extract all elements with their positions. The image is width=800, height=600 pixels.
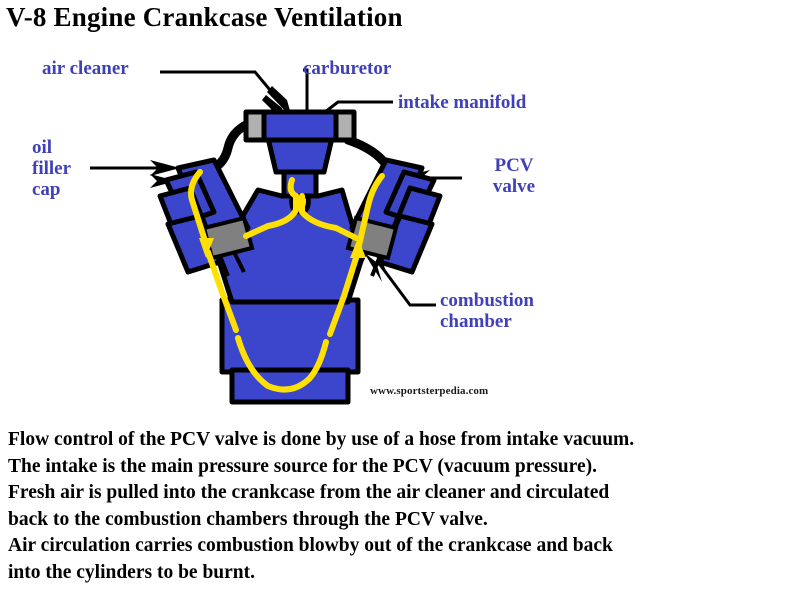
label-combustion-line2: chamber (440, 311, 534, 332)
label-air-cleaner-text: air cleaner (42, 58, 129, 79)
watermark: www.sportsterpedia.com (370, 385, 488, 397)
label-pcv-valve: PCV valve (468, 155, 560, 197)
description-line-2: The intake is the main pressure source f… (8, 454, 798, 481)
description-line-5: Air circulation carries combustion blowb… (8, 533, 798, 560)
air-cleaner-end-cap-right (336, 112, 354, 140)
label-pcv-line2: valve (468, 176, 560, 197)
label-oil-filler-line2: filler (32, 158, 71, 179)
label-air-cleaner: air cleaner (42, 58, 129, 79)
description-text: Flow control of the PCV valve is done by… (8, 427, 798, 586)
diagram-page: V-8 Engine Crankcase Ventilation (0, 0, 800, 600)
description-line-3: Fresh air is pulled into the crankcase f… (8, 480, 798, 507)
description-line-6: into the cylinders to be burnt. (8, 560, 798, 587)
label-carburetor: carburetor (303, 58, 391, 79)
label-combustion-chamber: combustion chamber (440, 290, 534, 332)
label-pcv-line1: PCV (468, 155, 560, 176)
label-carburetor-text: carburetor (303, 58, 391, 79)
air-cleaner (246, 112, 354, 140)
label-intake-manifold: intake manifold (398, 92, 526, 113)
description-line-1: Flow control of the PCV valve is done by… (8, 427, 798, 454)
label-oil-filler-line3: cap (32, 179, 71, 200)
air-cleaner-end-cap-left (246, 112, 264, 140)
label-intake-manifold-text: intake manifold (398, 92, 526, 113)
description-line-4: back to the combustion chambers through … (8, 507, 798, 534)
air-cleaner-housing (262, 112, 338, 140)
label-combustion-line1: combustion (440, 290, 534, 311)
label-oil-filler-cap: oil filler cap (32, 137, 71, 200)
label-oil-filler-line1: oil (32, 137, 71, 158)
carburetor (268, 138, 332, 172)
carburetor-body (268, 138, 332, 172)
